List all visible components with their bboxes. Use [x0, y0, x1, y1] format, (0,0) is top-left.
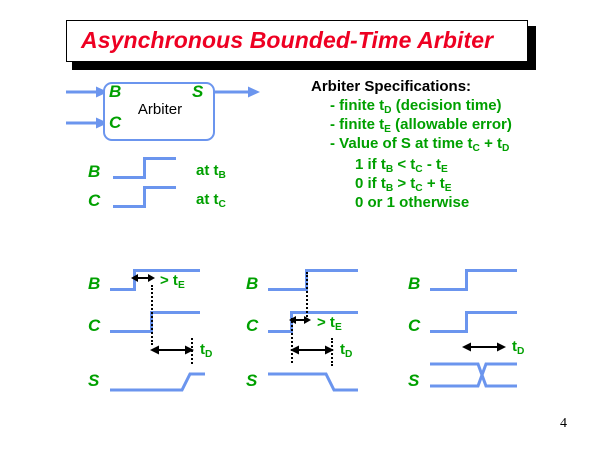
- spec-case-2-tail: + t: [423, 175, 445, 192]
- td2-td-annotation: tD: [340, 341, 352, 360]
- td3-td-subscript: D: [517, 346, 524, 357]
- td3-s-metastable-waveform: [430, 358, 520, 394]
- waveform-c-low-segment: [113, 205, 146, 208]
- td1-td-annotation: tD: [200, 341, 212, 360]
- td1-label-s: S: [88, 371, 99, 391]
- td3-label-b: B: [408, 274, 420, 294]
- spec-item-1-tail: (decision time): [392, 97, 502, 114]
- td3-c-rising-edge: [465, 311, 468, 333]
- td2-label-s: S: [246, 371, 257, 391]
- td3-b-rising-edge: [465, 269, 468, 291]
- waveform-c-time-annotation: at tC: [196, 191, 226, 210]
- spec-item-1: - finite tD (decision time): [330, 97, 502, 116]
- specifications-heading: Arbiter Specifications:: [311, 78, 471, 95]
- td2-b-high: [305, 269, 358, 272]
- spec-case-2-op: > t: [393, 175, 415, 192]
- input-arrow-b-icon: [66, 85, 108, 99]
- spec-item-3-sub: C: [473, 143, 480, 154]
- spec-item-2: - finite tE (allowable error): [330, 116, 512, 135]
- spec-item-2-dash: -: [330, 116, 335, 133]
- td3-td-arrow-icon: [462, 341, 506, 353]
- td2-dotted-line-b-edge: [306, 272, 308, 317]
- spec-item-3-text: Value of S at time t: [339, 135, 472, 152]
- spec-case-2: 0 if tB > tC + tE: [355, 175, 452, 194]
- spec-item-3-dash: -: [330, 135, 335, 152]
- input-arrow-c-icon: [66, 116, 108, 130]
- spec-case-1-sub2: C: [415, 164, 422, 175]
- td1-dotted-line-c-edge: [151, 285, 153, 345]
- td1-s-waveform: [110, 360, 205, 395]
- td2-te-arrow-icon: [289, 314, 311, 326]
- td2-td-subscript: D: [345, 349, 352, 360]
- td2-td-arrow-icon: [290, 344, 334, 356]
- arbiter-output-s-label: S: [192, 82, 203, 102]
- td1-te-subscript: E: [178, 280, 185, 291]
- waveform-b-time-annotation: at tB: [196, 162, 226, 181]
- td1-te-prefix: > t: [160, 272, 178, 289]
- spec-case-1-op: < t: [393, 156, 415, 173]
- td2-te-subscript: E: [335, 322, 342, 333]
- spec-item-3-sub2: D: [502, 143, 509, 154]
- spec-case-2-sub3: E: [445, 183, 452, 194]
- waveform-b-high-segment: [143, 157, 176, 160]
- spec-item-3: - Value of S at time tC + tD: [330, 135, 509, 154]
- spec-item-1-dash: -: [330, 97, 335, 114]
- spec-item-2-text: finite t: [339, 116, 384, 133]
- slide-canvas: Asynchronous Bounded-Time Arbiter B C S …: [0, 0, 600, 450]
- td3-c-low: [430, 330, 468, 333]
- title-box: Asynchronous Bounded-Time Arbiter: [66, 20, 528, 62]
- td3-label-s: S: [408, 371, 419, 391]
- arbiter-input-b-label: B: [109, 82, 121, 102]
- spec-case-1-value: 1 if t: [355, 156, 386, 173]
- at-tc-prefix: at t: [196, 191, 219, 208]
- td2-te-prefix: > t: [317, 314, 335, 331]
- page-title: Asynchronous Bounded-Time Arbiter: [81, 27, 493, 54]
- td2-s-waveform: [268, 360, 363, 395]
- at-tc-subscript: C: [219, 199, 226, 210]
- waveform-b-label: B: [88, 162, 100, 182]
- td1-label-b: B: [88, 274, 100, 294]
- spec-case-1-tail: - t: [423, 156, 441, 173]
- arbiter-block-name: Arbiter: [120, 101, 200, 118]
- td3-b-high: [465, 269, 517, 272]
- td2-te-annotation: > tE: [317, 314, 342, 333]
- spec-case-1: 1 if tB < tC - tE: [355, 156, 448, 175]
- page-number: 4: [560, 416, 567, 432]
- spec-case-1-sub3: E: [441, 164, 448, 175]
- waveform-c-label: C: [88, 191, 100, 211]
- td3-b-low: [430, 288, 468, 291]
- spec-item-1-text: finite t: [339, 97, 384, 114]
- spec-item-2-sub: E: [384, 124, 391, 135]
- td1-c-high: [150, 311, 200, 314]
- td3-td-annotation: tD: [512, 338, 524, 357]
- spec-item-3-tail: + t: [480, 135, 502, 152]
- td1-te-annotation: > tE: [160, 272, 185, 291]
- spec-item-1-sub: D: [384, 105, 391, 116]
- td2-label-b: B: [246, 274, 258, 294]
- td1-label-c: C: [88, 316, 100, 336]
- waveform-c-rising-edge: [143, 186, 146, 208]
- td2-b-low: [268, 288, 308, 291]
- at-tb-prefix: at t: [196, 162, 219, 179]
- spec-item-2-tail: (allowable error): [391, 116, 512, 133]
- at-tb-subscript: B: [219, 170, 226, 181]
- spec-case-2-sub2: C: [415, 183, 422, 194]
- waveform-b-low-segment: [113, 176, 146, 179]
- td2-label-c: C: [246, 316, 258, 336]
- td1-c-low: [110, 330, 153, 333]
- spec-case-2-value: 0 if t: [355, 175, 386, 192]
- td1-td-arrow-icon: [150, 344, 194, 356]
- output-arrow-s-icon: [208, 85, 260, 99]
- td1-td-subscript: D: [205, 349, 212, 360]
- td3-label-c: C: [408, 316, 420, 336]
- waveform-c-high-segment: [143, 186, 176, 189]
- waveform-b-rising-edge: [143, 157, 146, 179]
- td3-c-high: [465, 311, 517, 314]
- td1-te-arrow-icon: [131, 272, 155, 284]
- spec-case-3: 0 or 1 otherwise: [355, 194, 469, 211]
